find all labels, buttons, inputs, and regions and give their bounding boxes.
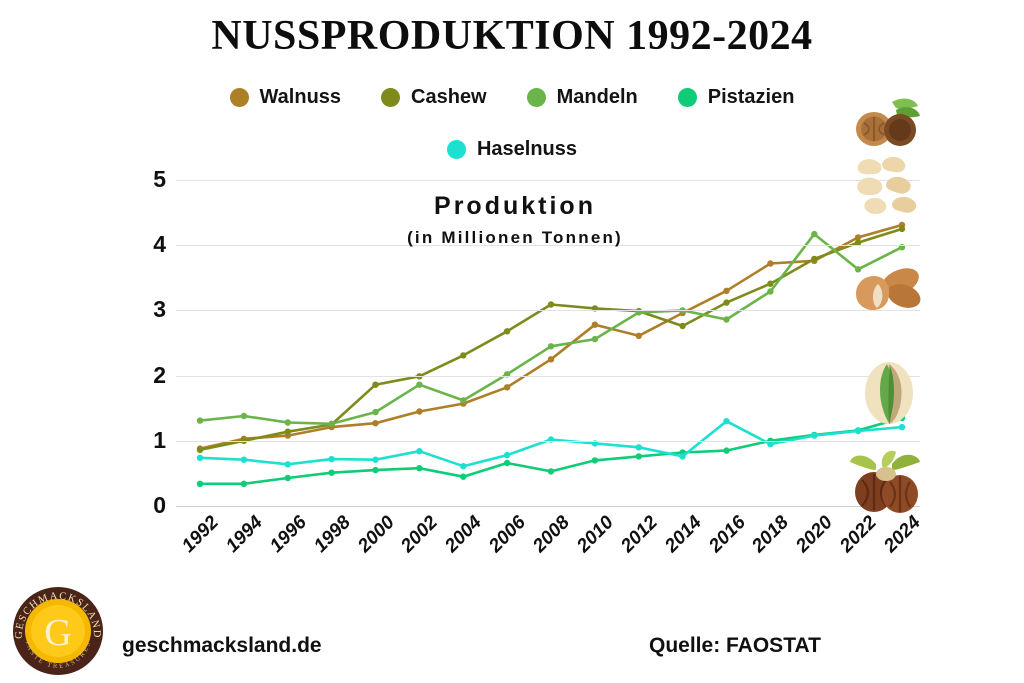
data-point[interactable] [241, 413, 247, 419]
series-haselnuss [197, 418, 905, 469]
y-tick-label: 1 [126, 429, 166, 452]
data-point[interactable] [372, 409, 378, 415]
series-cashew [197, 226, 905, 453]
x-tick-label: 1996 [259, 512, 311, 564]
legend-label: Pistazien [708, 86, 795, 109]
data-point[interactable] [723, 316, 729, 322]
hazelnut-illustration [846, 450, 926, 514]
y-axis-tick-labels: 012345 [126, 180, 166, 506]
data-point[interactable] [899, 226, 905, 232]
y-tick-label: 5 [126, 168, 166, 191]
x-tick-label: 2006 [478, 512, 530, 564]
source-label: Quelle: FAOSTAT [649, 634, 821, 658]
legend-label: Haselnuss [477, 138, 577, 161]
data-point[interactable] [504, 452, 510, 458]
brand-logo: GESCHMACKSLAND TASTE TREASURES G [8, 583, 108, 678]
x-tick-label: 2024 [873, 512, 925, 564]
legend-item-mandeln[interactable]: Mandeln [527, 86, 638, 109]
series-mandeln [197, 231, 905, 427]
gridline [176, 180, 920, 181]
data-point[interactable] [416, 448, 422, 454]
x-tick-label: 2018 [742, 512, 794, 564]
data-point[interactable] [197, 417, 203, 423]
y-tick-label: 3 [126, 298, 166, 321]
data-point[interactable] [592, 336, 598, 342]
data-point[interactable] [460, 397, 466, 403]
data-point[interactable] [767, 260, 773, 266]
y-tick-label: 0 [126, 494, 166, 517]
almond-illustration [850, 262, 924, 318]
data-point[interactable] [328, 470, 334, 476]
data-point[interactable] [416, 408, 422, 414]
x-tick-label: 2012 [610, 512, 662, 564]
data-point[interactable] [372, 420, 378, 426]
walnut-illustration [852, 96, 924, 152]
data-point[interactable] [416, 382, 422, 388]
gridline [176, 441, 920, 442]
data-point[interactable] [548, 468, 554, 474]
data-point[interactable] [460, 352, 466, 358]
legend-swatch-icon [527, 88, 546, 107]
legend-label: Walnuss [260, 86, 342, 109]
data-point[interactable] [723, 288, 729, 294]
legend-item-pistazien[interactable]: Pistazien [678, 86, 795, 109]
gridline [176, 376, 920, 377]
series-pistazien [197, 415, 905, 487]
data-point[interactable] [767, 441, 773, 447]
x-tick-label: 1998 [303, 512, 355, 564]
data-point[interactable] [504, 460, 510, 466]
data-point[interactable] [811, 432, 817, 438]
page-title: NUSSPRODUKTION 1992-2024 [0, 14, 1024, 58]
x-axis-tick-labels: 1992199419961998200020022004200620082010… [176, 506, 920, 576]
data-point[interactable] [811, 231, 817, 237]
svg-text:G: G [44, 612, 71, 654]
data-point[interactable] [328, 456, 334, 462]
x-tick-label: 2002 [391, 512, 443, 564]
x-tick-label: 1992 [171, 512, 223, 564]
data-point[interactable] [636, 333, 642, 339]
data-point[interactable] [372, 382, 378, 388]
data-point[interactable] [241, 481, 247, 487]
data-point[interactable] [504, 384, 510, 390]
data-point[interactable] [592, 457, 598, 463]
data-point[interactable] [592, 322, 598, 328]
data-point[interactable] [855, 428, 861, 434]
data-point[interactable] [548, 356, 554, 362]
data-point[interactable] [241, 457, 247, 463]
legend-item-haselnuss[interactable]: Haselnuss [447, 138, 577, 161]
y-tick-label: 2 [126, 364, 166, 387]
data-point[interactable] [548, 301, 554, 307]
legend-swatch-icon [381, 88, 400, 107]
data-point[interactable] [197, 481, 203, 487]
data-point[interactable] [767, 288, 773, 294]
x-tick-label: 2004 [434, 512, 486, 564]
y-tick-label: 4 [126, 233, 166, 256]
data-point[interactable] [197, 447, 203, 453]
website-label: geschmacksland.de [122, 634, 322, 658]
cashew-illustration [852, 154, 924, 216]
data-point[interactable] [548, 343, 554, 349]
chart-page: NUSSPRODUKTION 1992-2024 WalnussCashewMa… [0, 0, 1024, 683]
data-point[interactable] [372, 467, 378, 473]
legend-swatch-icon [230, 88, 249, 107]
legend-swatch-icon [447, 140, 466, 159]
data-point[interactable] [504, 328, 510, 334]
data-point[interactable] [197, 455, 203, 461]
data-point[interactable] [723, 447, 729, 453]
data-point[interactable] [285, 429, 291, 435]
data-point[interactable] [460, 474, 466, 480]
legend-item-walnuss[interactable]: Walnuss [230, 86, 342, 109]
data-point[interactable] [679, 453, 685, 459]
data-point[interactable] [285, 419, 291, 425]
axis-subtitle: (in Millionen Tonnen) [300, 228, 730, 248]
legend-label: Mandeln [557, 86, 638, 109]
x-tick-label: 2014 [654, 512, 706, 564]
data-point[interactable] [767, 281, 773, 287]
legend-label: Cashew [411, 86, 487, 109]
x-tick-label: 2010 [566, 512, 618, 564]
axis-title: Produktion [300, 192, 730, 221]
x-tick-label: 2000 [347, 512, 399, 564]
data-point[interactable] [416, 465, 422, 471]
pistachio-illustration [860, 360, 918, 426]
x-tick-label: 2020 [785, 512, 837, 564]
x-tick-label: 1994 [215, 512, 267, 564]
data-point[interactable] [723, 418, 729, 424]
x-tick-label: 2008 [522, 512, 574, 564]
data-point[interactable] [460, 463, 466, 469]
data-point[interactable] [679, 323, 685, 329]
x-tick-label: 2022 [829, 512, 881, 564]
x-tick-label: 2016 [698, 512, 750, 564]
legend-swatch-icon [678, 88, 697, 107]
data-point[interactable] [372, 457, 378, 463]
data-point[interactable] [636, 444, 642, 450]
data-point[interactable] [723, 299, 729, 305]
gridline [176, 310, 920, 311]
data-point[interactable] [636, 453, 642, 459]
data-point[interactable] [811, 256, 817, 262]
data-point[interactable] [285, 475, 291, 481]
legend-item-cashew[interactable]: Cashew [381, 86, 487, 109]
data-point[interactable] [285, 461, 291, 467]
data-point[interactable] [328, 421, 334, 427]
